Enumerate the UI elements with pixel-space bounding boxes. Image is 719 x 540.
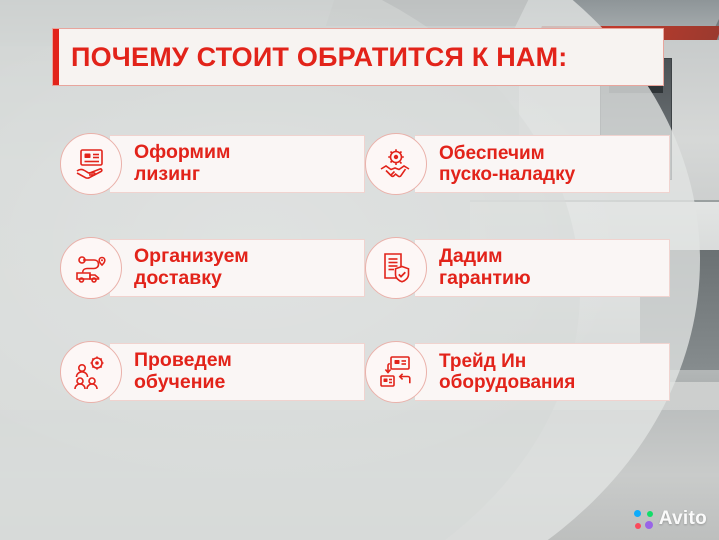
feature-label-plate: Дадим гарантию — [415, 239, 670, 297]
feature-label: Обеспечим пуско-наладку — [439, 143, 575, 186]
document-shield-icon — [365, 237, 427, 299]
features-row: Организуем доставку Дадим — [60, 228, 670, 308]
avito-watermark: Avito — [634, 508, 707, 530]
feature-label-plate: Проведем обучение — [110, 343, 365, 401]
features-row: Проведем обучение — [60, 332, 670, 412]
handshake-gear-icon — [365, 133, 427, 195]
feature-item-commissioning[interactable]: Обеспечим пуско-наладку — [365, 124, 670, 204]
feature-label: Трейд Ин оборудования — [439, 351, 575, 394]
feature-label: Организуем доставку — [134, 246, 249, 290]
avito-dots-logo — [634, 510, 653, 529]
feature-label-plate: Трейд Ин оборудования — [415, 343, 670, 401]
avito-wordmark: Avito — [659, 508, 707, 530]
feature-label-plate: Обеспечим пуско-наладку — [415, 135, 670, 193]
delivery-truck-route-icon — [60, 237, 122, 299]
features-row: Оформим лизинг Обеспечим пуско-наладку — [60, 124, 670, 204]
poster: ПОЧЕМУ СТОИТ ОБРАТИТСЯ К НАМ: — [0, 0, 719, 540]
feature-item-trade-in[interactable]: Трейд Ин оборудования — [365, 332, 670, 412]
feature-item-delivery[interactable]: Организуем доставку — [60, 228, 365, 308]
feature-label: Дадим гарантию — [439, 246, 531, 290]
page-title: ПОЧЕМУ СТОИТ ОБРАТИТСЯ К НАМ: — [71, 42, 567, 73]
feature-item-training[interactable]: Проведем обучение — [60, 332, 365, 412]
feature-label-plate: Организуем доставку — [110, 239, 365, 297]
feature-item-leasing[interactable]: Оформим лизинг — [60, 124, 365, 204]
trade-in-exchange-icon — [365, 341, 427, 403]
feature-item-warranty[interactable]: Дадим гарантию — [365, 228, 670, 308]
features-grid: Оформим лизинг Обеспечим пуско-наладку — [60, 124, 670, 436]
leasing-document-hand-icon — [60, 133, 122, 195]
feature-label-plate: Оформим лизинг — [110, 135, 365, 193]
training-people-gear-icon — [60, 341, 122, 403]
title-banner: ПОЧЕМУ СТОИТ ОБРАТИТСЯ К НАМ: — [52, 28, 664, 86]
feature-label: Проведем обучение — [134, 350, 232, 394]
feature-label: Оформим лизинг — [134, 142, 230, 186]
